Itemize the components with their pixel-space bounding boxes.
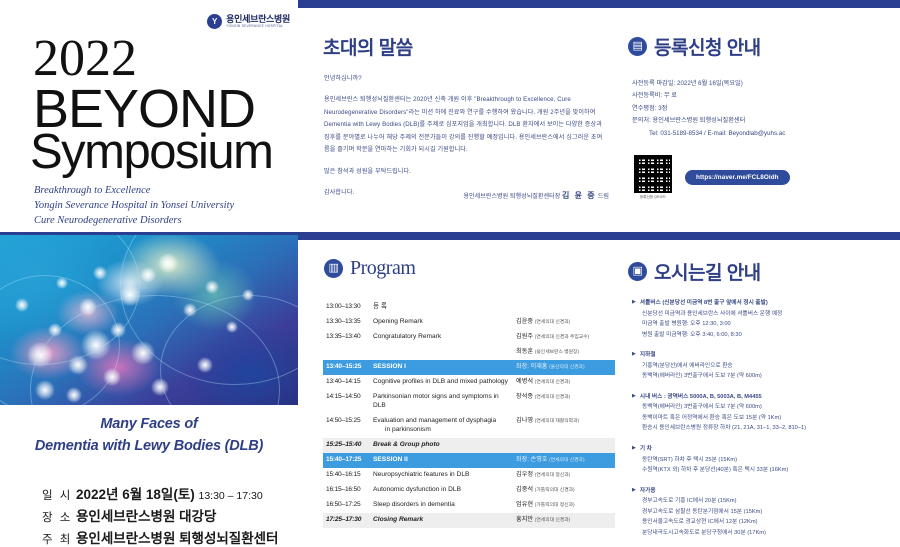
theme-line-1: Many Faces of [0,414,298,436]
directions-title-label: 시내 버스 : 광역버스 5000A, B, 5003A, B, M4455 [640,392,762,403]
directions-group-title: ▶기 차 [632,444,896,455]
cover-tagline: Breakthrough to Excellence Yongin Severa… [34,183,234,229]
cover-title-sub: Symposium [30,128,272,177]
directions-line: 용인서울고속도로 광교상현 IC에서 12분 (12Km) [632,517,896,528]
program-title: Closing Remark [373,516,516,525]
program-time: 15:40–16:15 [326,471,373,480]
cover-column: Y 용인세브란스병원 YONGIN SEVERANCE HOSPITAL 202… [0,0,298,547]
event-info-label: 주 최 [42,531,76,547]
book-icon: ▥ [324,259,343,278]
registration-line: 사전등록 마감일: 2022년 6월 16일(목요일) [632,78,892,90]
program-row: 13:00–13:30등 록 [323,300,615,315]
program-speaker: 좌장: 이재홍 (울산의대 신경과) [516,363,612,371]
invitation-body: 안녕하십니까?용인세브란스 퇴행성뇌질환센터는 2020년 신축 개원 이후 "… [324,73,604,209]
program-title: Congratulatory Remark [373,333,516,342]
program-time: 13:40–14:15 [326,378,373,387]
directions-line: 동백역(에버라인) 3번출구에서 도보 7분 (약 600m) [632,371,896,382]
directions-group: ▶기 차동탄역(SRT) 하차 후 택시 25분 (15Km)수원역(KTX 외… [632,444,896,476]
program-time: 13:35–13:40 [326,333,373,342]
signature-role: 용인세브란스병원 퇴행성뇌질환센터장 [463,193,560,200]
tagline-line-2: Yongin Severance Hospital in Yonsei Univ… [34,198,234,213]
program-time: 15:25–15:40 [326,441,373,450]
invitation-paragraph: 많은 참석과 성원을 부탁드립니다. [324,166,604,178]
program-speaker: 김우정 (연세의대 정신과) [516,471,612,479]
program-row: 17:25–17:30Closing Remark홍지만 (연세의대 신경과) [323,513,615,528]
middle-column: 초대의 말씀 안녕하십니까?용인세브란스 퇴행성뇌질환센터는 2020년 신축 … [310,0,615,547]
event-info-row: 일 시2022년 6월 18일(토) 13:30 – 17:30 [42,484,278,506]
hospital-logo-icon: Y [207,14,222,29]
program-time: 13:00–13:30 [326,303,373,312]
program-speaker: 예병석 (연세의대 신경과) [516,378,612,386]
registration-heading-label: 등록신청 안내 [654,33,761,60]
directions-line: 환승시 용인세브란스병원 정류장 하차 (21, 21A, 31–1, 33–2… [632,423,896,434]
program-speaker: 장석종 (연세의대 신경과) [516,393,612,401]
program-speaker: 김윤중 (연세의대 신경과) [516,318,612,326]
directions-group: ▶자가용경부고속도로 기흥 IC에서 20분 (15Km)경부고속도로 삼팔선 … [632,486,896,539]
event-info-value: 2022년 6월 18일(토) 13:30 – 17:30 [76,484,263,506]
program-row: 15:25–15:40Break & Group photo [323,438,615,453]
directions-line: 경부고속도로 기흥 IC에서 20분 (15Km) [632,496,896,507]
directions-line: 동백이마트 혹은 어정역에서 환승 혹은 도보 15분 (약 1Km) [632,413,896,424]
qr-code[interactable]: 등록신청 QR코드 [634,155,672,200]
directions-line: 미금역 출발 병원행: 오후 12:30, 3:00 [632,319,896,330]
program-title: Parkinsonian motor signs and symptoms in… [373,393,516,411]
event-info-label: 일 시 [42,487,76,506]
program-row: 13:40–14:15Cognitive profiles in DLB and… [323,375,615,390]
registration-heading: ▤ 등록신청 안내 [628,33,761,60]
program-table: 13:00–13:30등 록13:30–13:35Opening Remark김… [323,300,615,528]
program-heading-label: Program [350,257,415,280]
program-row: 13:30–13:35Opening Remark김윤중 (연세의대 신경과) [323,315,615,330]
map-icon: ▣ [628,262,647,281]
invitation-paragraph: 용인세브란스 퇴행성뇌질환센터는 2020년 신축 개원 이후 "Breakth… [324,94,604,156]
neural-network-image [0,235,298,405]
signature-suffix: 드림 [598,193,609,200]
program-heading: ▥ Program [324,257,415,280]
program-speaker: 김중석 (가톨릭의대 신경과) [516,486,612,494]
program-time: 16:50–17:25 [326,501,373,510]
qr-code-image[interactable] [634,155,672,193]
directions-heading: ▣ 오시는길 안내 [628,258,761,285]
triangle-bullet-icon: ▶ [632,392,636,401]
program-title: SESSION II [373,456,516,465]
program-title: Neuropsychiatric features in DLB [373,471,516,480]
event-info-row: 장 소용인세브란스병원 대강당 [42,506,278,528]
triangle-bullet-icon: ▶ [632,486,636,495]
hospital-logo: Y 용인세브란스병원 YONGIN SEVERANCE HOSPITAL [207,14,290,29]
program-title: Opening Remark [373,318,516,327]
directions-line: 분당내곡도시고속화도로 분당구청에서 30분 (17Km) [632,528,896,539]
hospital-name-ko: 용인세브란스병원 [226,15,290,24]
directions-title-label: 지하철 [640,350,656,361]
program-speaker: 최동훈 (용인세브란스 병원장) [516,348,612,356]
registration-line: 연수평점: 3점 [632,103,892,115]
registration-qr-block: 등록신청 QR코드 https://naver.me/FCL8Oidh [634,155,790,200]
directions-title-label: 셔틀버스 (신분당선 미금역 8번 출구 앞에서 정시 출발) [640,298,768,309]
program-title: Autonomic dysfunction in DLB [373,486,516,495]
program-title: Sleep disorders in dementia [373,501,516,510]
cover-year: 2022 [33,33,137,85]
triangle-bullet-icon: ▶ [632,298,636,307]
program-row: 14:15–14:50Parkinsonian motor signs and … [323,390,615,414]
program-time: 16:15–16:50 [326,486,373,495]
directions-line: 수원역(KTX 외) 하차 후 분당선(40분) 혹은 택시 33분 (16Km… [632,465,896,476]
directions-body: ▶셔틀버스 (신분당선 미금역 8번 출구 앞에서 정시 출발)신분당선 미금역… [632,298,896,547]
program-row: 최동훈 (용인세브란스 병원장) [323,345,615,360]
directions-line: 동백역(에버라인) 3번출구에서 도보 7분 (약 600m) [632,402,896,413]
directions-line: 신분당선 미금역과 용인세브란스 사이에 셔틀버스 운행 예정 [632,309,896,320]
poster-root: Y 용인세브란스병원 YONGIN SEVERANCE HOSPITAL 202… [0,0,900,547]
directions-line: 기흥역(분당선)에서 에버라인으로 환승 [632,361,896,372]
document-icon: ▤ [628,37,647,56]
program-speaker: 김나영 (연세의대 재활의학과) [516,417,612,425]
program-row: 16:50–17:25Sleep disorders in dementia엄유… [323,498,615,513]
qr-caption: 등록신청 QR코드 [640,195,666,200]
registration-link[interactable]: https://naver.me/FCL8Oidh [685,170,790,185]
event-info-value: 용인세브란스병원 퇴행성뇌질환센터 [76,528,278,547]
triangle-bullet-icon: ▶ [632,350,636,359]
directions-line: 경부고속도로 삼팔선 동탄분기점에서 15분 (15Km) [632,507,896,518]
hospital-name-en: YONGIN SEVERANCE HOSPITAL [226,25,290,28]
program-time: 17:25–17:30 [326,516,373,525]
tagline-line-3: Cure Neurodegenerative Disorders [34,213,234,228]
program-speaker: 홍지만 (연세의대 신경과) [516,516,612,524]
directions-group: ▶지하철기흥역(분당선)에서 에버라인으로 환승동백역(에버라인) 3번출구에서… [632,350,896,382]
event-info-label: 장 소 [42,509,76,528]
program-time: 14:50–15:25 [326,417,373,426]
directions-group-title: ▶지하철 [632,350,896,361]
program-row: 13:35–13:40Congratulatory Remark김원주 (연세의… [323,330,615,345]
symposium-theme: Many Faces of Dementia with Lewy Bodies … [0,414,298,458]
program-time: 13:40–15:25 [326,363,373,372]
program-row: 16:15–16:50Autonomic dysfunction in DLB김… [323,483,615,498]
registration-line: 문의처: 용인세브란스병원 퇴행성뇌질환센터 [632,115,892,127]
signature-name: 김 윤 중 [562,191,596,200]
directions-line: 동탄역(SRT) 하차 후 택시 25분 (15Km) [632,455,896,466]
program-title: Evaluation and management of dysphagiain… [373,417,516,435]
directions-group: ▶셔틀버스 (신분당선 미금역 8번 출구 앞에서 정시 출발)신분당선 미금역… [632,298,896,340]
registration-details: 사전등록 마감일: 2022년 6월 16일(목요일)사전등록비: 무 료연수평… [632,78,892,140]
invitation-greeting: 안녕하십니까? [324,73,604,85]
triangle-bullet-icon: ▶ [632,444,636,453]
directions-group-title: ▶시내 버스 : 광역버스 5000A, B, 5003A, B, M4455 [632,392,896,403]
program-session-row: 13:40–15:25SESSION I좌장: 이재홍 (울산의대 신경과) [323,360,615,375]
tagline-line-1: Breakthrough to Excellence [34,183,234,198]
program-row: 14:50–15:25Evaluation and management of … [323,414,615,438]
registration-line: Tel: 031-5189-8534 / E-mail: Beyondlab@y… [632,128,892,140]
program-session-row: 15:40–17:25SESSION II좌장: 손영호 (연세의대 신경과) [323,453,615,468]
program-time: 15:40–17:25 [326,456,373,465]
theme-line-2: Dementia with Lewy Bodies (DLB) [0,436,298,458]
program-time: 14:15–14:50 [326,393,373,402]
event-info-value: 용인세브란스병원 대강당 [76,506,216,528]
invitation-signature: 용인세브란스병원 퇴행성뇌질환센터장 김 윤 중 드림 [463,190,609,201]
event-info-row: 주 최용인세브란스병원 퇴행성뇌질환센터 [42,528,278,547]
program-title: Cognitive profiles in DLB and mixed path… [373,378,516,387]
directions-title-label: 기 차 [640,444,652,455]
directions-line: 병원 출발 미금역행: 오후 3:40, 6:00, 8:30 [632,330,896,341]
directions-group-title: ▶자가용 [632,486,896,497]
program-speaker: 김원주 (연세의대 신경과 주임교수) [516,333,612,341]
program-title: Break & Group photo [373,441,516,450]
registration-line: 사전등록비: 무 료 [632,90,892,102]
event-info-block: 일 시2022년 6월 18일(토) 13:30 – 17:30장 소용인세브란… [42,484,278,547]
invitation-heading-label: 초대의 말씀 [323,33,413,60]
program-time: 13:30–13:35 [326,318,373,327]
directions-group-title: ▶셔틀버스 (신분당선 미금역 8번 출구 앞에서 정시 출발) [632,298,896,309]
directions-heading-label: 오시는길 안내 [654,258,761,285]
program-title: 등 록 [373,303,516,312]
program-speaker: 엄유현 (가톨릭의대 정신과) [516,501,612,509]
program-title: SESSION I [373,363,516,372]
program-row: 15:40–16:15Neuropsychiatric features in … [323,468,615,483]
invitation-heading: 초대의 말씀 [323,33,413,60]
right-column: ▤ 등록신청 안내 사전등록 마감일: 2022년 6월 16일(목요일)사전등… [620,0,900,547]
directions-group: ▶시내 버스 : 광역버스 5000A, B, 5003A, B, M4455동… [632,392,896,434]
program-speaker: 좌장: 손영호 (연세의대 신경과) [516,456,612,464]
directions-title-label: 자가용 [640,486,656,497]
